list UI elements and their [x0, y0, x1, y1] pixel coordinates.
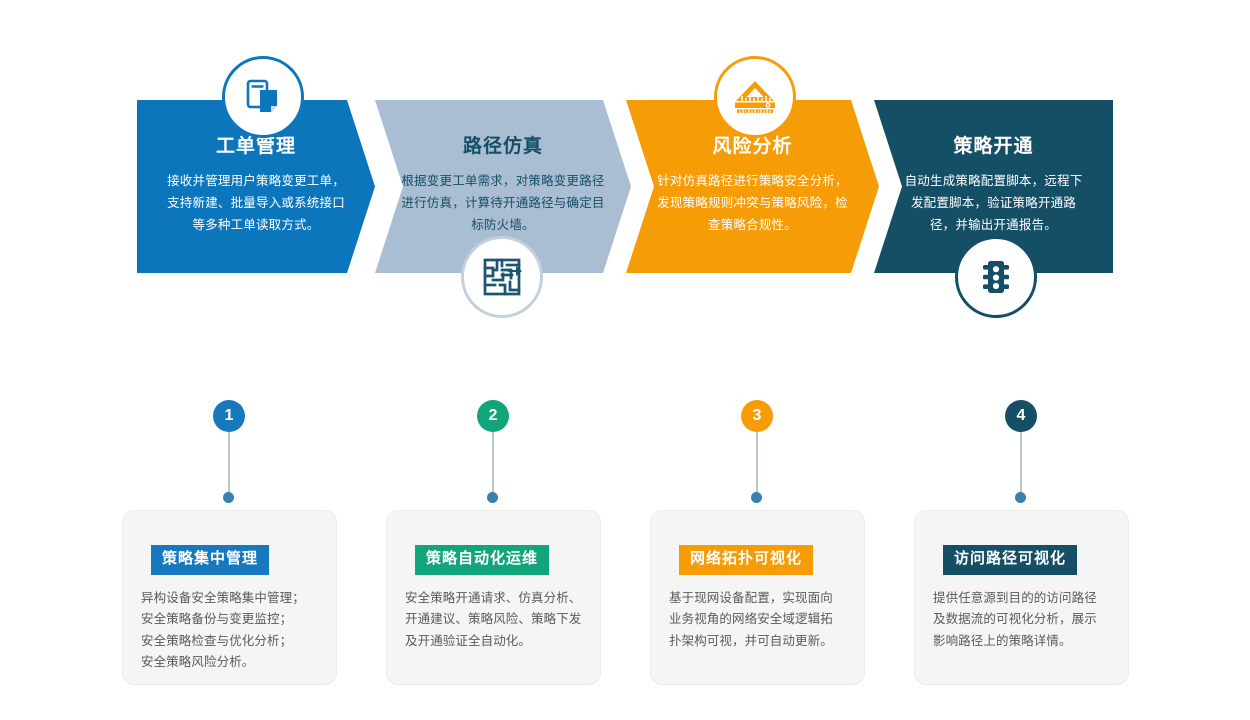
connector-dot-4	[1015, 492, 1026, 503]
feature-card-4-description: 提供任意源到目的的访问路径 及数据流的可视化分析，展示 影响路径上的策略详情。	[933, 588, 1110, 653]
maze-path-icon	[461, 236, 543, 318]
feature-card-2[interactable]: 策略自动化运维 安全策略开通请求、仿真分析、 开通建议、策略风险、策略下发 及开…	[386, 510, 601, 685]
feature-card-4-tag: 访问路径可视化	[943, 545, 1077, 575]
step-number-badge-4: 4	[1005, 400, 1037, 432]
feature-card-4[interactable]: 访问路径可视化 提供任意源到目的的访问路径 及数据流的可视化分析，展示 影响路径…	[914, 510, 1129, 685]
ruler-setsquare-icon	[714, 56, 796, 138]
process-step-3-title: 风险分析	[712, 136, 792, 159]
connector-line-1	[228, 432, 230, 499]
infographic-stage: 工单管理 接收并管理用户策略变更工单，支持新建、批量导入或系统接口等多种工单读取…	[0, 0, 1250, 720]
process-step-2-content: 路径仿真 根据变更工单需求，对策略变更路径进行仿真，计算待开通路径与确定目标防火…	[375, 136, 631, 236]
process-step-4-title: 策略开通	[953, 136, 1033, 159]
feature-card-2-description: 安全策略开通请求、仿真分析、 开通建议、策略风险、策略下发 及开通验证全自动化。	[405, 588, 582, 653]
traffic-light-icon	[955, 236, 1037, 318]
feature-cards: 1 策略集中管理 异构设备安全策略集中管理； 安全策略备份与变更监控； 安全策略…	[0, 400, 1250, 720]
step-number-3: 3	[753, 407, 762, 425]
process-step-1-content: 工单管理 接收并管理用户策略变更工单，支持新建、批量导入或系统接口等多种工单读取…	[137, 136, 375, 236]
step-number-badge-2: 2	[477, 400, 509, 432]
step-number-badge-3: 3	[741, 400, 773, 432]
connector-dot-1	[223, 492, 234, 503]
feature-card-3-tag: 网络拓扑可视化	[679, 545, 813, 575]
feature-card-1[interactable]: 策略集中管理 异构设备安全策略集中管理； 安全策略备份与变更监控； 安全策略检查…	[122, 510, 337, 685]
connector-line-2	[492, 432, 494, 499]
connector-line-4	[1020, 432, 1022, 499]
process-step-3-description: 针对仿真路径进行策略安全分析，发现策略规则冲突与策略风险，检查策略合规性。	[652, 171, 853, 237]
process-flow: 工单管理 接收并管理用户策略变更工单，支持新建、批量导入或系统接口等多种工单读取…	[0, 0, 1250, 340]
process-step-4-content: 策略开通 自动生成策略配置脚本，远程下发配置脚本，验证策略开通路径，并输出开通报…	[874, 136, 1113, 236]
connector-line-3	[756, 432, 758, 499]
feature-card-3-description: 基于现网设备配置，实现面向 业务视角的网络安全域逻辑拓 扑架构可视，并可自动更新…	[669, 588, 846, 653]
connector-dot-2	[487, 492, 498, 503]
feature-card-2-tag: 策略自动化运维	[415, 545, 549, 575]
feature-card-3[interactable]: 网络拓扑可视化 基于现网设备配置，实现面向 业务视角的网络安全域逻辑拓 扑架构可…	[650, 510, 865, 685]
step-number-4: 4	[1017, 407, 1026, 425]
step-number-1: 1	[225, 407, 234, 425]
process-step-3-content: 风险分析 针对仿真路径进行策略安全分析，发现策略规则冲突与策略风险，检查策略合规…	[626, 136, 879, 236]
step-number-badge-1: 1	[213, 400, 245, 432]
step-number-2: 2	[489, 407, 498, 425]
feature-card-1-tag: 策略集中管理	[151, 545, 269, 575]
process-step-2-title: 路径仿真	[463, 136, 543, 159]
process-step-2-description: 根据变更工单需求，对策略变更路径进行仿真，计算待开通路径与确定目标防火墙。	[401, 171, 605, 237]
connector-dot-3	[751, 492, 762, 503]
feature-card-1-description: 异构设备安全策略集中管理； 安全策略备份与变更监控； 安全策略检查与优化分析； …	[141, 588, 318, 674]
document-copy-icon	[222, 56, 304, 138]
process-step-4-description: 自动生成策略配置脚本，远程下发配置脚本，验证策略开通路径，并输出开通报告。	[900, 171, 1087, 237]
process-step-1-description: 接收并管理用户策略变更工单，支持新建、批量导入或系统接口等多种工单读取方式。	[163, 171, 349, 237]
process-step-1-title: 工单管理	[216, 136, 296, 159]
